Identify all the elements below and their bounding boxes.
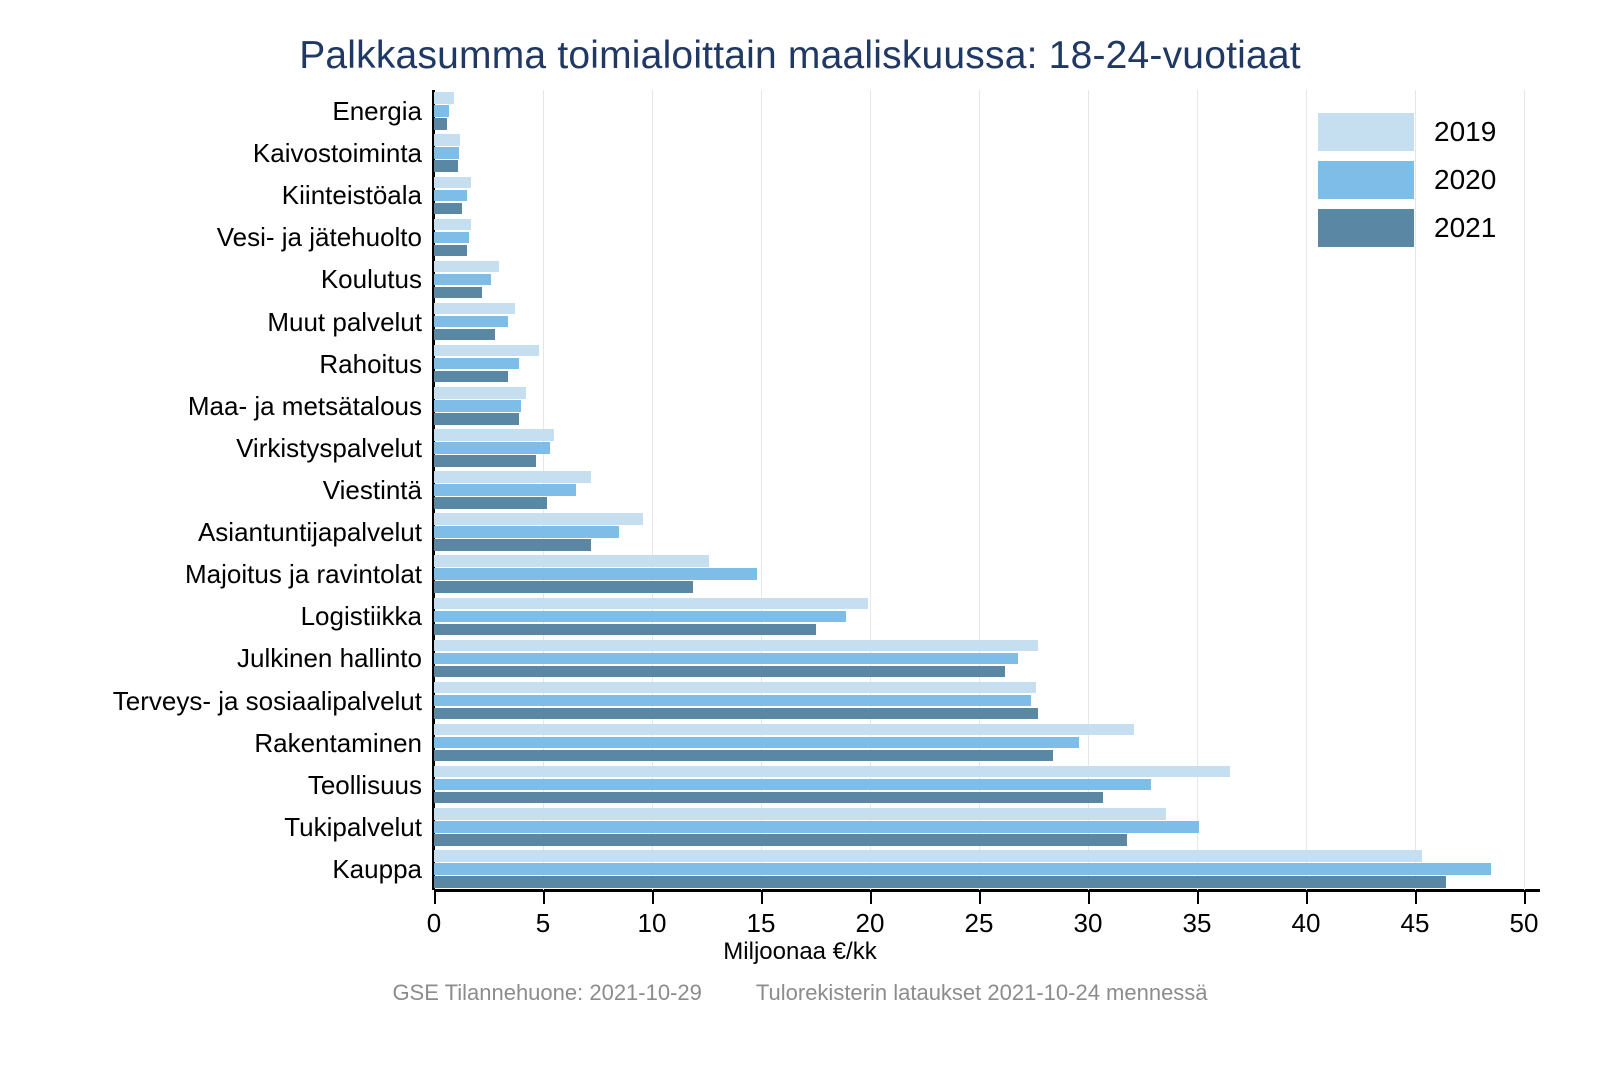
x-tick-mark [979,892,981,904]
bar-2019[interactable] [434,429,554,441]
x-tick-mark [1088,892,1090,904]
legend-item-2019[interactable]: 2019 [1318,108,1518,156]
bar-2020[interactable] [434,611,846,623]
bar-2021[interactable] [434,329,495,341]
y-axis-label-9: Viestintä [2,477,422,503]
bar-group [434,471,1524,509]
bar-group [434,429,1524,467]
chart-figure: Palkkasumma toimialoittain maaliskuussa:… [0,0,1600,1067]
bar-2019[interactable] [434,261,499,273]
legend-item-2021[interactable]: 2021 [1318,204,1518,252]
y-axis-label-15: Rakentaminen [2,730,422,756]
bar-2020[interactable] [434,190,467,202]
chart-legend: 2019 2020 2021 [1318,108,1518,252]
x-tick-mark [761,892,763,904]
bar-2021[interactable] [434,371,508,383]
x-tick-mark [652,892,654,904]
y-axis-label-8: Virkistyspalvelut [2,435,422,461]
chart-footer: GSE Tilannehuone: 2021-10-29 Tulorekiste… [0,980,1600,1006]
y-axis-label-7: Maa- ja metsätalous [2,393,422,419]
bar-group [434,682,1524,720]
y-axis-label-13: Julkinen hallinto [2,645,422,671]
bar-2020[interactable] [434,316,508,328]
x-tick-label: 40 [1276,908,1336,939]
y-axis-label-17: Tukipalvelut [2,814,422,840]
chart-title: Palkkasumma toimialoittain maaliskuussa:… [0,34,1600,78]
bar-group [434,555,1524,593]
bar-2021[interactable] [434,581,693,593]
x-tick-mark [1524,892,1526,904]
bar-2021[interactable] [434,834,1127,846]
bar-2021[interactable] [434,287,482,299]
bar-2019[interactable] [434,850,1422,862]
y-axis-label-10: Asiantuntijapalvelut [2,519,422,545]
legend-label-2021: 2021 [1434,212,1496,244]
bar-2021[interactable] [434,876,1446,888]
bar-2021[interactable] [434,203,462,215]
bar-2021[interactable] [434,497,547,509]
x-tick-label: 35 [1167,908,1227,939]
bar-2020[interactable] [434,232,469,244]
bar-2019[interactable] [434,724,1134,736]
x-tick-mark [870,892,872,904]
x-tick-label: 50 [1494,908,1554,939]
bar-group [434,808,1524,846]
bar-2021[interactable] [434,750,1053,762]
bar-2019[interactable] [434,682,1036,694]
bar-group [434,513,1524,551]
gridline [1524,90,1525,890]
x-axis-label: Miljoonaa €/kk [0,938,1600,966]
bar-2021[interactable] [434,118,447,130]
y-axis-label-5: Muut palvelut [2,309,422,335]
bar-2021[interactable] [434,792,1103,804]
bar-2020[interactable] [434,400,521,412]
bar-2019[interactable] [434,177,471,189]
y-axis-label-12: Logistiikka [2,603,422,629]
x-tick-label: 0 [404,908,464,939]
bar-2019[interactable] [434,555,709,567]
x-tick-label: 25 [949,908,1009,939]
x-tick-mark [543,892,545,904]
bar-2019[interactable] [434,92,454,104]
bar-2021[interactable] [434,160,458,172]
footnote-source: GSE Tilannehuone: 2021-10-29 [392,980,701,1006]
bar-2019[interactable] [434,808,1166,820]
y-axis-label-0: Energia [2,98,422,124]
bar-2020[interactable] [434,568,757,580]
y-axis-label-4: Koulutus [2,266,422,292]
bar-2021[interactable] [434,455,536,467]
bar-2020[interactable] [434,358,519,370]
footnote-data-date: Tulorekisterin lataukset 2021-10-24 menn… [756,980,1208,1006]
legend-swatch-2021 [1318,209,1414,247]
bar-2020[interactable] [434,442,550,454]
bar-2020[interactable] [434,653,1018,665]
bar-2020[interactable] [434,105,449,117]
bar-2019[interactable] [434,303,515,315]
bar-2020[interactable] [434,484,576,496]
bar-2021[interactable] [434,413,519,425]
y-axis-label-3: Vesi- ja jätehuolto [2,224,422,250]
legend-swatch-2019 [1318,113,1414,151]
bar-2019[interactable] [434,513,643,525]
x-tick-mark [1415,892,1417,904]
x-tick-label: 10 [622,908,682,939]
x-tick-mark [434,892,436,904]
bar-2020[interactable] [434,695,1031,707]
legend-label-2020: 2020 [1434,164,1496,196]
bar-group [434,261,1524,299]
x-tick-label: 45 [1385,908,1445,939]
bar-2019[interactable] [434,598,868,610]
x-tick-mark [1306,892,1308,904]
bar-group [434,598,1524,636]
y-axis-label-14: Terveys- ja sosiaalipalvelut [2,688,422,714]
bar-2021[interactable] [434,708,1038,720]
bar-group [434,640,1524,678]
bar-2020[interactable] [434,147,459,159]
bar-group [434,766,1524,804]
bar-group [434,303,1524,341]
bar-group [434,387,1524,425]
y-axis-label-2: Kiinteistöala [2,182,422,208]
bar-2020[interactable] [434,737,1079,749]
legend-label-2019: 2019 [1434,116,1496,148]
y-axis-label-6: Rahoitus [2,351,422,377]
bar-2021[interactable] [434,666,1005,678]
bar-group [434,345,1524,383]
bar-2021[interactable] [434,245,467,257]
bar-2020[interactable] [434,821,1199,833]
bar-2020[interactable] [434,274,491,286]
legend-item-2020[interactable]: 2020 [1318,156,1518,204]
bar-2020[interactable] [434,779,1151,791]
legend-swatch-2020 [1318,161,1414,199]
bar-2019[interactable] [434,345,539,357]
bar-2020[interactable] [434,526,619,538]
x-tick-label: 15 [731,908,791,939]
bar-2019[interactable] [434,387,526,399]
x-tick-mark [1197,892,1199,904]
bar-2021[interactable] [434,539,591,551]
y-axis-label-16: Teollisuus [2,772,422,798]
y-axis-label-18: Kauppa [2,856,422,882]
x-tick-label: 20 [840,908,900,939]
y-axis-label-1: Kaivostoiminta [2,140,422,166]
bar-group [434,850,1524,888]
bar-2019[interactable] [434,640,1038,652]
bar-2019[interactable] [434,134,460,146]
x-tick-label: 30 [1058,908,1118,939]
bar-2019[interactable] [434,766,1230,778]
bar-2019[interactable] [434,219,471,231]
bar-2019[interactable] [434,471,591,483]
y-axis-label-11: Majoitus ja ravintolat [2,561,422,587]
bar-2020[interactable] [434,863,1491,875]
bar-2021[interactable] [434,624,816,636]
x-tick-label: 5 [513,908,573,939]
bar-group [434,724,1524,762]
